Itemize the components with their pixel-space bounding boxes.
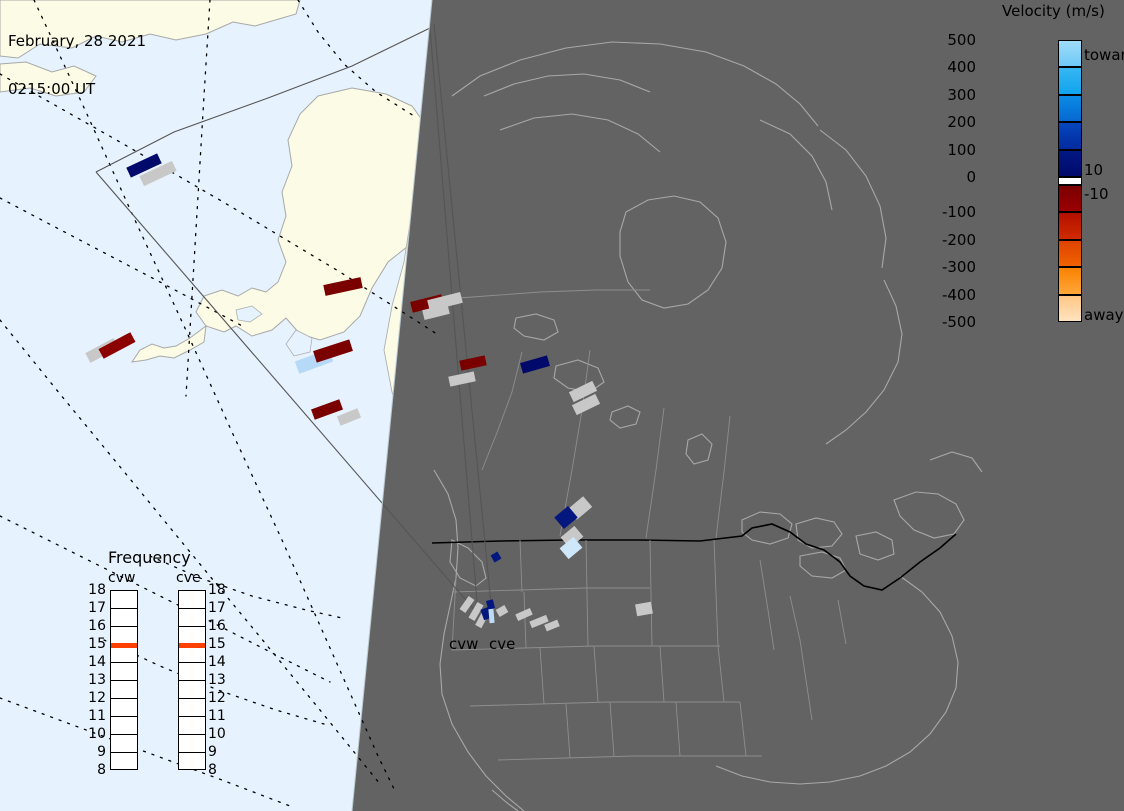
- frequency-tick-cve-9: 9: [208, 745, 217, 759]
- map-date: February, 28 2021: [8, 33, 146, 49]
- frequency-tick-cvw-16: 16: [88, 619, 106, 633]
- frequency-tick-cve-10: 10: [208, 727, 226, 741]
- velocity-tick-0: 0: [966, 170, 976, 185]
- frequency-column-cvw: cvw: [108, 570, 135, 586]
- frequency-cell: [179, 609, 205, 627]
- frequency-bar-cvw: [110, 590, 138, 770]
- velocity-tick-200: 200: [947, 115, 976, 130]
- frequency-tick-cvw-18: 18: [88, 583, 106, 597]
- fov-label-cvw: cvw: [449, 635, 478, 653]
- frequency-legend-title: Frequency: [108, 548, 191, 567]
- frequency-cell: [179, 591, 205, 609]
- frequency-cell: [111, 681, 137, 699]
- velocity-band-4: [1058, 150, 1082, 177]
- frequency-tick-cve-8: 8: [208, 763, 217, 777]
- frequency-tick-cvw-12: 12: [88, 691, 106, 705]
- frequency-tick-cvw-10: 10: [88, 727, 106, 741]
- frequency-tick-cvw-9: 9: [88, 745, 106, 759]
- map-time: 0215:00 UT: [8, 81, 146, 97]
- velocity-tick-neg200: -200: [942, 233, 976, 248]
- frequency-column-cve: cve: [176, 570, 201, 586]
- fov-label-cve: cve: [489, 635, 515, 653]
- velocity-tick-neg300: -300: [942, 260, 976, 275]
- frequency-tick-cve-12: 12: [208, 691, 226, 705]
- velocity-band-0: [1058, 40, 1082, 67]
- frequency-cell: [179, 717, 205, 735]
- frequency-tick-cvw-13: 13: [88, 673, 106, 687]
- frequency-legend: Frequency cvw18171615141312111098cve1817…: [88, 548, 238, 786]
- frequency-cell: [111, 663, 137, 681]
- neg-threshold-label: -10: [1084, 187, 1109, 202]
- frequency-bar-cve: [178, 590, 206, 770]
- frequency-tick-cve-14: 14: [208, 655, 226, 669]
- frequency-tick-cvw-15: 15: [88, 637, 106, 651]
- frequency-tick-cvw-14: 14: [88, 655, 106, 669]
- frequency-tick-cvw-8: 8: [88, 763, 106, 777]
- frequency-cell: [179, 681, 205, 699]
- velocity-tick-labels: 5004003002001000-100-200-300-400-500: [912, 40, 980, 322]
- frequency-cell: [179, 735, 205, 753]
- velocity-colorbar: [1058, 40, 1082, 322]
- frequency-cell: [111, 717, 137, 735]
- velocity-band-3: [1058, 122, 1082, 149]
- away-label: away: [1084, 308, 1124, 323]
- frequency-tick-cve-16: 16: [208, 619, 226, 633]
- velocity-legend-title: Velocity (m/s): [1002, 2, 1105, 20]
- frequency-cell: [179, 753, 205, 771]
- velocity-tick-400: 400: [947, 60, 976, 75]
- frequency-cell: [111, 735, 137, 753]
- velocity-tick-neg500: -500: [942, 315, 976, 330]
- frequency-cell: [179, 699, 205, 717]
- velocity-tick-100: 100: [947, 143, 976, 158]
- velocity-band-2: [1058, 95, 1082, 122]
- pos-threshold-label: 10: [1084, 163, 1103, 178]
- velocity-band-8: [1058, 240, 1082, 267]
- frequency-cell: [179, 663, 205, 681]
- frequency-tick-cve-18: 18: [208, 583, 226, 597]
- frequency-tick-cve-11: 11: [208, 709, 226, 723]
- frequency-tick-cve-13: 13: [208, 673, 226, 687]
- velocity-colorbar-legend: Velocity (m/s) 5004003002001000-100-200-…: [984, 0, 1124, 340]
- velocity-band-6: [1058, 185, 1082, 212]
- velocity-band-5: [1058, 177, 1082, 185]
- frequency-tick-cvw-17: 17: [88, 601, 106, 615]
- velocity-side-labels: toward10-10away: [1084, 40, 1124, 340]
- frequency-cell: [111, 699, 137, 717]
- frequency-tick-cvw-11: 11: [88, 709, 106, 723]
- frequency-cell: [111, 591, 137, 609]
- velocity-tick-500: 500: [947, 33, 976, 48]
- timestamp-block: February, 28 2021 0215:00 UT: [8, 1, 146, 129]
- frequency-tick-cve-15: 15: [208, 637, 226, 651]
- velocity-tick-300: 300: [947, 88, 976, 103]
- velocity-band-10: [1058, 295, 1082, 322]
- velocity-tick-neg100: -100: [942, 205, 976, 220]
- toward-label: toward: [1084, 48, 1124, 63]
- frequency-marker-cvw: [111, 643, 137, 648]
- velocity-band-7: [1058, 212, 1082, 239]
- velocity-band-1: [1058, 67, 1082, 94]
- velocity-tick-neg400: -400: [942, 288, 976, 303]
- superdarn-map-figure: February, 28 2021 0215:00 UT Velocity (m…: [0, 0, 1124, 811]
- frequency-cell: [111, 753, 137, 771]
- frequency-marker-cve: [179, 643, 205, 648]
- frequency-cell: [111, 609, 137, 627]
- frequency-tick-cve-17: 17: [208, 601, 226, 615]
- velocity-band-9: [1058, 267, 1082, 294]
